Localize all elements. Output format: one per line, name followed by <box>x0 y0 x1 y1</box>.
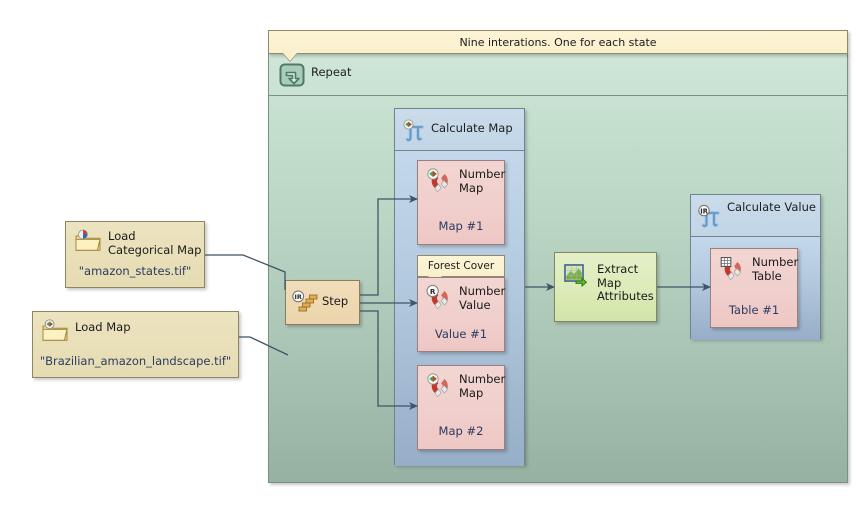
folder-categorical-icon <box>74 229 102 253</box>
repeat-loop-icon <box>279 62 305 88</box>
node-extract-map-attributes[interactable]: Extract Map Attributes <box>554 252 657 322</box>
node-number-map-2-title: Number Map <box>459 373 505 400</box>
folder-map-icon <box>41 319 69 343</box>
node-load-categorical-map-value: "amazon_states.tif" <box>66 264 204 278</box>
node-load-map-value: "Brazilian_amazon_landscape.tif" <box>33 354 238 368</box>
node-number-value-1-title: Number Value <box>459 285 505 312</box>
magnet-table-icon <box>718 255 748 281</box>
node-load-map[interactable]: Load Map "Brazilian_amazon_landscape.tif… <box>32 311 239 378</box>
diagram-canvas: Repeat Nine interations. One for each st… <box>0 0 856 506</box>
repeat-note[interactable]: Nine interations. One for each state <box>268 30 848 54</box>
group-calculate-value-title-line1: Calculate Value <box>727 200 816 214</box>
group-calculate-map-title: Calculate Map <box>431 122 513 135</box>
svg-text:R: R <box>430 287 436 296</box>
extract-map-icon <box>563 262 591 288</box>
pi-map-icon <box>401 118 427 144</box>
node-extract-map-attributes-title: Extract Map Attributes <box>597 263 656 304</box>
node-number-map-2[interactable]: Number Map Map #2 <box>417 365 505 450</box>
svg-text:IR: IR <box>700 207 708 215</box>
forest-cover-note[interactable]: Forest Cover <box>417 255 505 277</box>
node-number-map-1-value: Map #1 <box>418 219 504 233</box>
node-load-categorical-map[interactable]: Load Categorical Map "amazon_states.tif" <box>65 221 205 288</box>
node-number-table-1-title: Number Table <box>752 256 798 283</box>
magnet-value-icon: R <box>425 284 455 310</box>
svg-text:IR: IR <box>295 293 302 301</box>
node-number-value-1-value: Value #1 <box>418 327 504 341</box>
node-number-map-1-title: Number Map <box>459 168 505 195</box>
group-calculate-value-title: Calculate Value <box>727 201 816 214</box>
pi-value-icon: IR <box>697 204 723 230</box>
node-number-value-1[interactable]: R Number Value Value #1 <box>417 277 505 352</box>
node-number-table-1-value: Table #1 <box>711 303 797 317</box>
node-step[interactable]: IR Step <box>285 280 360 325</box>
node-number-map-1[interactable]: Number Map Map #1 <box>417 160 505 245</box>
repeat-note-tail <box>283 53 297 61</box>
node-step-title: Step <box>322 295 348 309</box>
repeat-label: Repeat <box>311 65 351 79</box>
magnet-map-icon <box>425 372 455 398</box>
stairs-icon: IR <box>292 290 320 316</box>
node-number-table-1[interactable]: Number Table Table #1 <box>710 248 798 328</box>
magnet-map-icon <box>425 167 455 193</box>
repeat-titlebar: Repeat <box>269 54 847 96</box>
node-load-categorical-map-title: Load Categorical Map <box>108 230 204 257</box>
node-load-map-title: Load Map <box>75 321 131 335</box>
node-number-map-2-value: Map #2 <box>418 424 504 438</box>
